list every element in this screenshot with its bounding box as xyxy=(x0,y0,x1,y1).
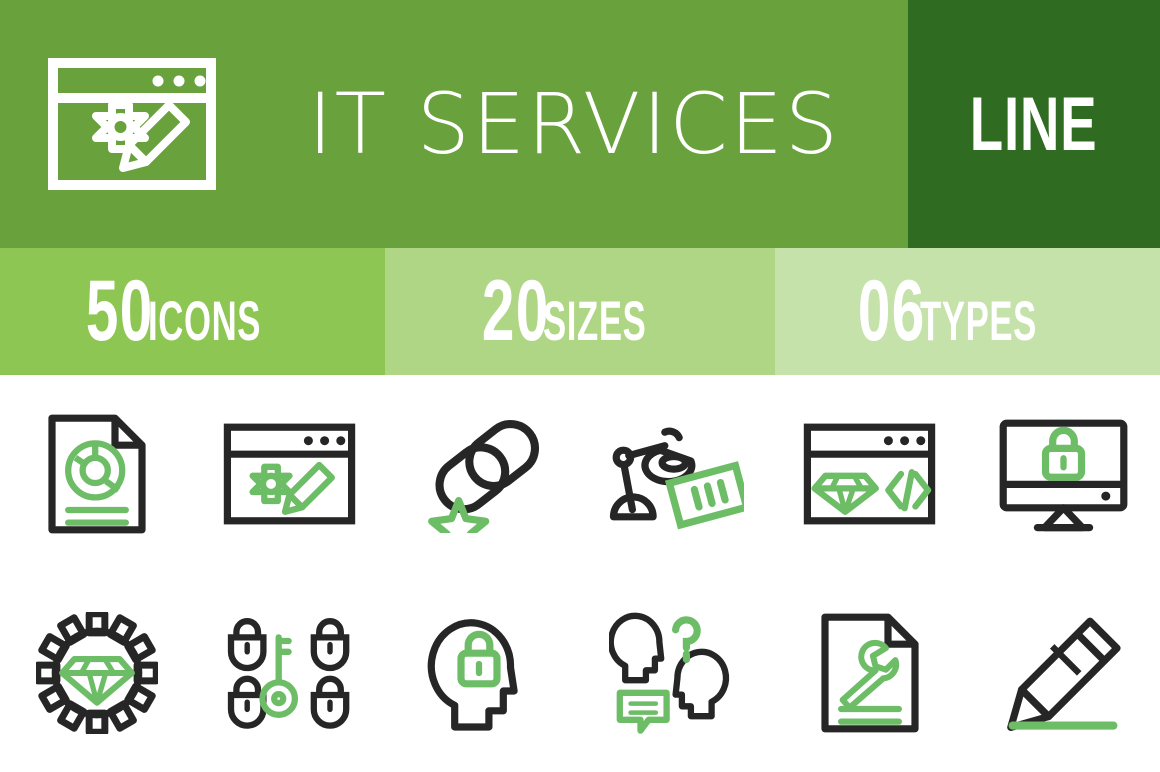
desk-lamp-document-icon xyxy=(609,416,744,533)
stat-types: 06 TYPES xyxy=(775,248,1160,375)
stat-types-number: 06 xyxy=(858,273,926,350)
stat-sizes-number: 20 xyxy=(482,273,550,350)
icon-cell[interactable] xyxy=(387,574,580,772)
page-title: IT SERVICES xyxy=(240,0,908,248)
browser-gear-pencil-icon xyxy=(48,58,216,190)
padlocks-key-icon xyxy=(222,614,357,731)
heads-question-chat-icon xyxy=(609,610,744,736)
monitor-lock-icon xyxy=(996,416,1131,533)
icon-grid xyxy=(0,375,1160,772)
header-banner: IT SERVICES LINE xyxy=(0,0,1160,248)
stats-bar: 50 ICONS 20 SIZES 06 TYPES xyxy=(0,248,1160,375)
stat-icons-number: 50 xyxy=(86,273,154,350)
browser-diamond-code-icon xyxy=(802,420,937,528)
icon-cell[interactable] xyxy=(580,574,773,772)
style-badge: LINE xyxy=(908,0,1160,248)
style-badge-label: LINE xyxy=(970,81,1098,168)
icon-cell[interactable] xyxy=(387,375,580,574)
chain-link-star-icon xyxy=(420,416,546,533)
icon-cell[interactable] xyxy=(967,574,1160,772)
document-wrench-icon xyxy=(816,610,924,736)
head-lock-icon xyxy=(425,610,542,736)
browser-gear-pencil-icon xyxy=(222,420,357,528)
stat-sizes-label: SIZES xyxy=(543,296,646,346)
document-pie-chart-icon xyxy=(43,411,151,537)
icon-cell[interactable] xyxy=(193,375,386,574)
icon-cell[interactable] xyxy=(580,375,773,574)
pencil-underline-icon xyxy=(1000,614,1126,731)
icon-pack-preview: IT SERVICES LINE 50 ICONS 20 SIZES 06 TY… xyxy=(0,0,1160,772)
stat-icons: 50 ICONS xyxy=(0,248,385,375)
stat-icons-label: ICONS xyxy=(148,296,261,346)
stat-types-label: TYPES xyxy=(920,296,1037,346)
gear-diamond-icon xyxy=(36,612,158,734)
icon-cell[interactable] xyxy=(0,375,193,574)
stat-sizes: 20 SIZES xyxy=(385,248,775,375)
icon-cell[interactable] xyxy=(0,574,193,772)
icon-cell[interactable] xyxy=(773,574,966,772)
icon-cell[interactable] xyxy=(773,375,966,574)
icon-cell[interactable] xyxy=(193,574,386,772)
icon-cell[interactable] xyxy=(967,375,1160,574)
